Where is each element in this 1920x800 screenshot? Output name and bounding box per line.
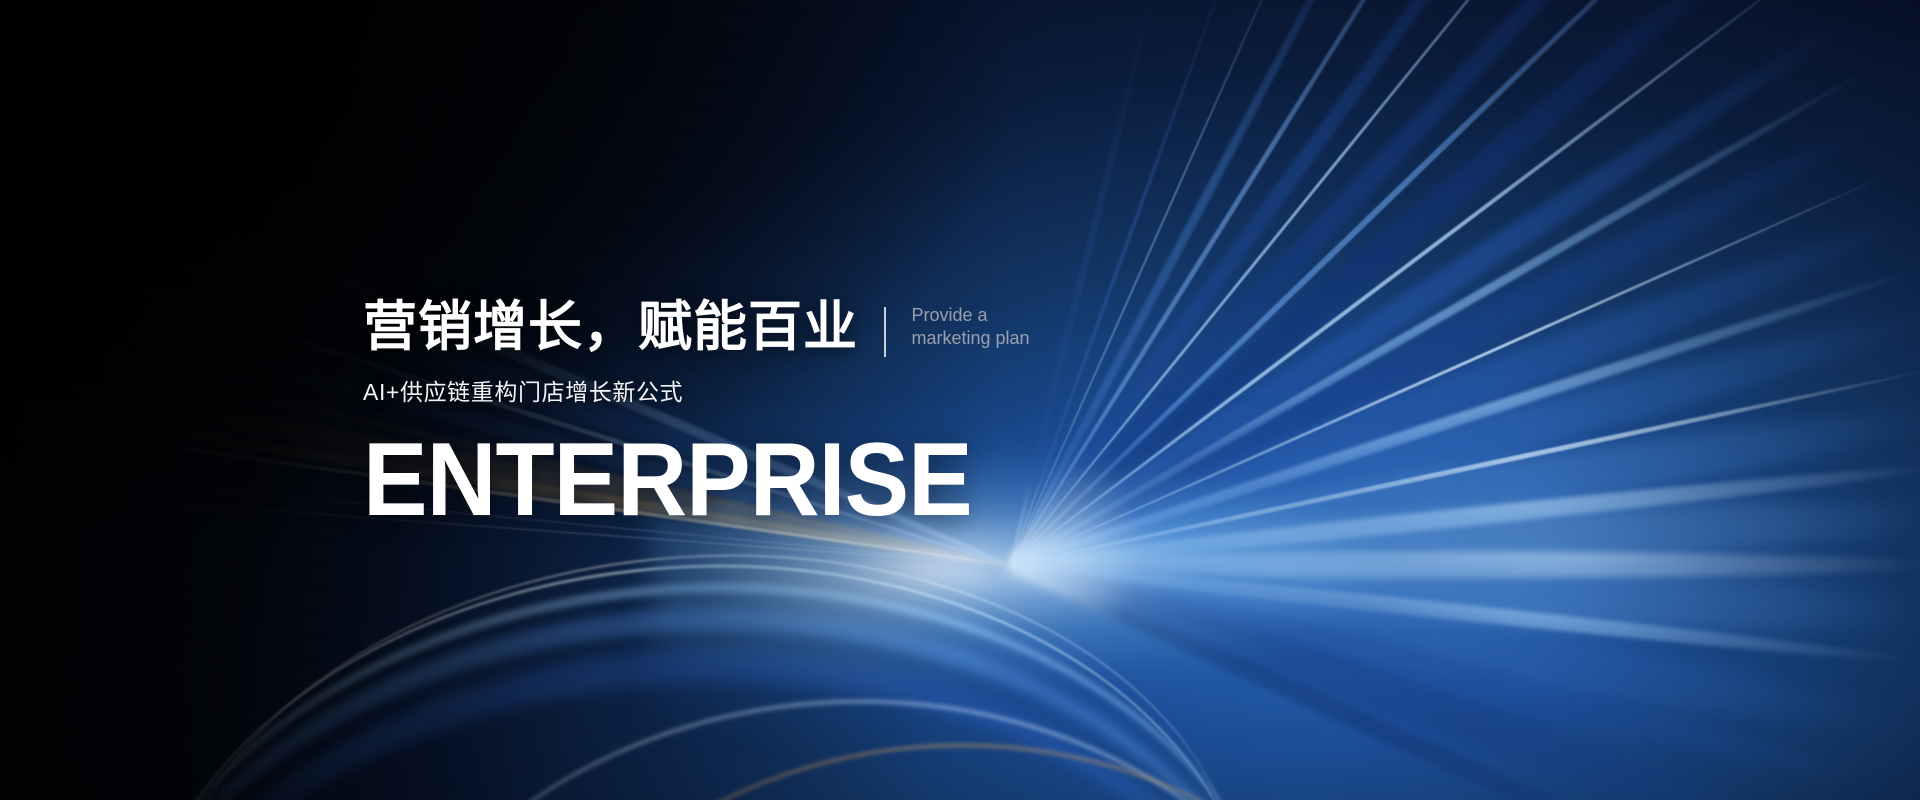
hero-banner: 营销增长，赋能百业 Provide a marketing plan AI+供应… — [0, 0, 1920, 800]
page-title: 营销增长，赋能百业 — [363, 300, 858, 354]
english-tagline: Provide a marketing plan — [912, 304, 1030, 350]
headline-row: 营销增长，赋能百业 Provide a marketing plan — [363, 300, 1123, 357]
wordmark: ENTERPRISE — [363, 438, 1070, 523]
hero-content: 营销增长，赋能百业 Provide a marketing plan AI+供应… — [363, 300, 1123, 523]
vertical-divider — [884, 307, 886, 357]
subtitle: AI+供应链重构门店增长新公式 — [363, 381, 1123, 404]
english-tagline-line2: marketing plan — [912, 327, 1030, 350]
english-tagline-line1: Provide a — [912, 304, 1030, 327]
